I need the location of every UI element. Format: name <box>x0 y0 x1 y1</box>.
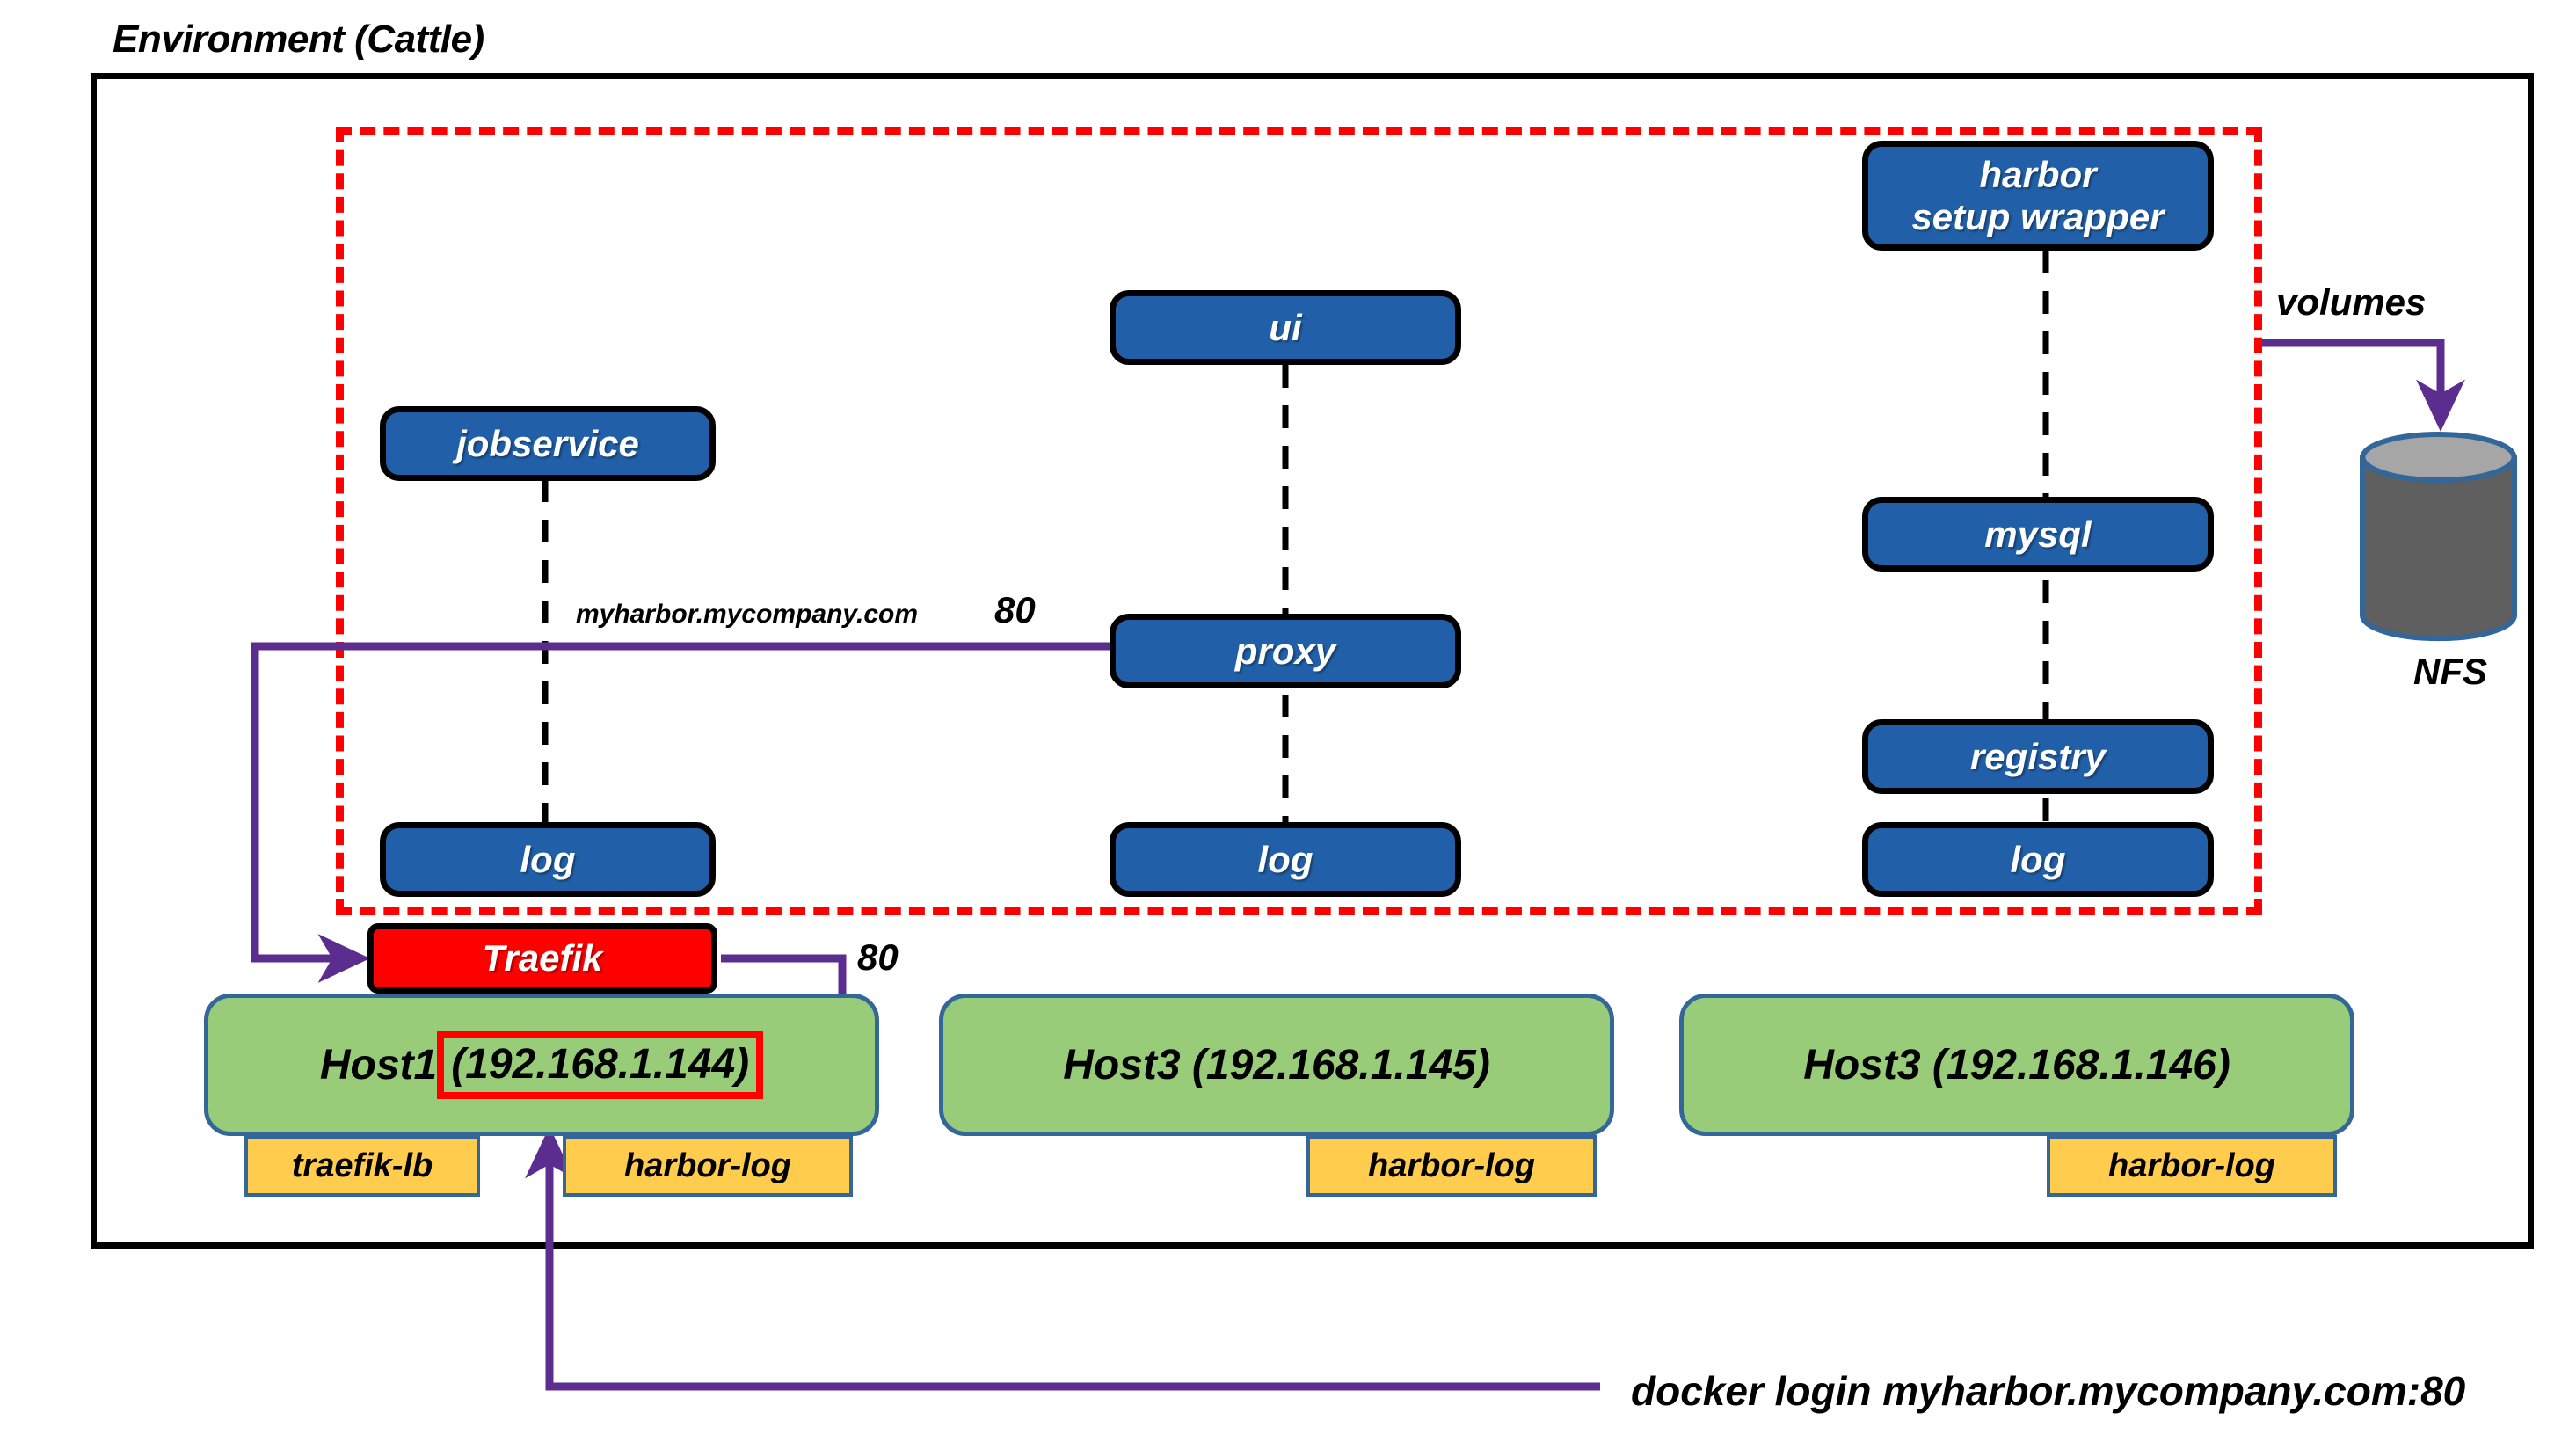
service-label-log-right: log <box>2011 839 2066 880</box>
host-1-ip-highlight[interactable]: (192.168.1.144) <box>437 1031 763 1099</box>
traefik-label: Traefik <box>483 937 603 979</box>
host-3-label-harbor-log[interactable]: harbor-log <box>2047 1135 2337 1197</box>
environment-title: Environment (Cattle) <box>113 18 484 62</box>
host-box-2[interactable]: Host3 (192.168.1.145) <box>939 994 1614 1136</box>
service-label-setup-wrapper: setup wrapper <box>1911 196 2164 237</box>
host-1-label-traefik-lb[interactable]: traefik-lb <box>244 1135 480 1197</box>
service-label-registry: registry <box>1970 736 2106 777</box>
service-label-harbor: harbor <box>1979 154 2096 195</box>
service-label-ui: ui <box>1269 307 1301 348</box>
host-box-3[interactable]: Host3 (192.168.1.146) <box>1679 994 2354 1136</box>
service-label-jobservice: jobservice <box>456 423 639 464</box>
host-3-name: Host3 (192.168.1.146) <box>1803 1041 2230 1089</box>
host-2-name: Host3 (192.168.1.145) <box>1063 1041 1490 1089</box>
service-label-proxy: proxy <box>1235 630 1335 672</box>
service-label-mysql: mysql <box>1984 513 2091 555</box>
service-box-registry-log[interactable]: log <box>1862 822 2214 897</box>
service-box-jobservice[interactable]: jobservice <box>380 406 716 481</box>
host-2-label-harbor-log[interactable]: harbor-log <box>1306 1135 1597 1197</box>
nfs-cylinder <box>2357 431 2520 642</box>
service-box-registry[interactable]: registry <box>1862 719 2214 794</box>
diagram-canvas: Environment (Cattle) left --> down --> r… <box>0 0 2576 1449</box>
domain-annotation: myharbor.mycompany.com <box>576 600 918 630</box>
host-1-label-harbor-log[interactable]: harbor-log <box>563 1135 853 1197</box>
service-label-log-middle: log <box>1258 839 1313 880</box>
port-annotation-traefik: 80 <box>857 936 899 979</box>
label-text-harbor-log-3: harbor-log <box>2108 1147 2275 1185</box>
host-1-name: Host1 <box>320 1041 437 1089</box>
service-box-proxy[interactable]: proxy <box>1110 614 1461 688</box>
service-box-ui[interactable]: ui <box>1110 290 1461 365</box>
label-text-harbor-log-2: harbor-log <box>1368 1147 1535 1185</box>
label-text-harbor-log-1: harbor-log <box>624 1147 791 1185</box>
label-text-traefik-lb: traefik-lb <box>292 1147 433 1185</box>
volumes-annotation: volumes <box>2276 281 2426 324</box>
nfs-label: NFS <box>2413 651 2487 693</box>
host-box-1[interactable]: Host1 (192.168.1.144) <box>204 994 879 1136</box>
service-box-proxy-log[interactable]: log <box>1110 822 1461 897</box>
service-box-harbor-setup-wrapper[interactable]: harbor setup wrapper <box>1862 141 2214 251</box>
traefik-box[interactable]: Traefik <box>367 923 717 994</box>
service-box-jobservice-log[interactable]: log <box>380 822 716 897</box>
docker-login-annotation: docker login myharbor.mycompany.com:80 <box>1631 1367 2465 1415</box>
service-label-log-left: log <box>520 839 576 880</box>
port-annotation-proxy: 80 <box>994 589 1036 631</box>
service-box-mysql[interactable]: mysql <box>1862 497 2214 572</box>
